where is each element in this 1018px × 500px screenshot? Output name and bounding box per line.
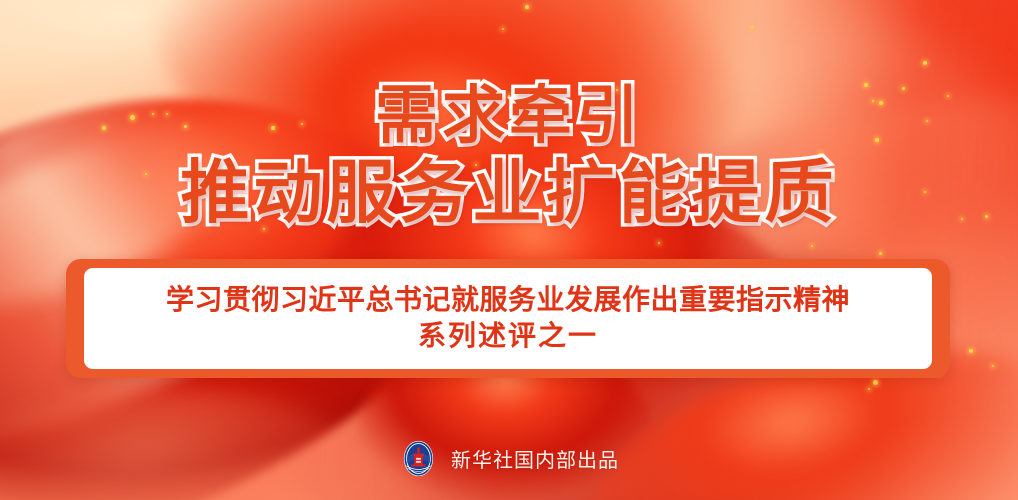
- footer-credit: 新华社国内部出品: [0, 439, 1018, 478]
- xinhua-news-agency-emblem-icon: [399, 439, 438, 478]
- sparkle-particle: [868, 388, 870, 390]
- subtitle-line-1: 学习贯彻习近平总书记就服务业发展作出重要指示精神: [166, 282, 850, 318]
- sparkle-particle: [969, 349, 973, 353]
- sparkle-particle: [923, 61, 927, 65]
- subtitle-banner-inner: 学习贯彻习近平总书记就服务业发展作出重要指示精神 系列述评之一: [84, 268, 932, 369]
- subtitle-banner: 学习贯彻习近平总书记就服务业发展作出重要指示精神 系列述评之一: [66, 259, 950, 378]
- title-line-1: 需求牵引: [0, 84, 1018, 147]
- subtitle-line-2: 系列述评之一: [418, 318, 598, 354]
- sparkle-particle: [502, 28, 504, 30]
- page-title: 需求牵引 推动服务业扩能提质: [0, 84, 1018, 228]
- title-line-2: 推动服务业扩能提质: [0, 159, 1018, 228]
- poster-canvas: 需求牵引 推动服务业扩能提质 学习贯彻习近平总书记就服务业发展作出重要指示精神 …: [0, 0, 1018, 500]
- sparkle-particle: [879, 252, 882, 255]
- footer-credit-text: 新华社国内部出品: [451, 444, 619, 473]
- sparkle-particle: [873, 380, 878, 385]
